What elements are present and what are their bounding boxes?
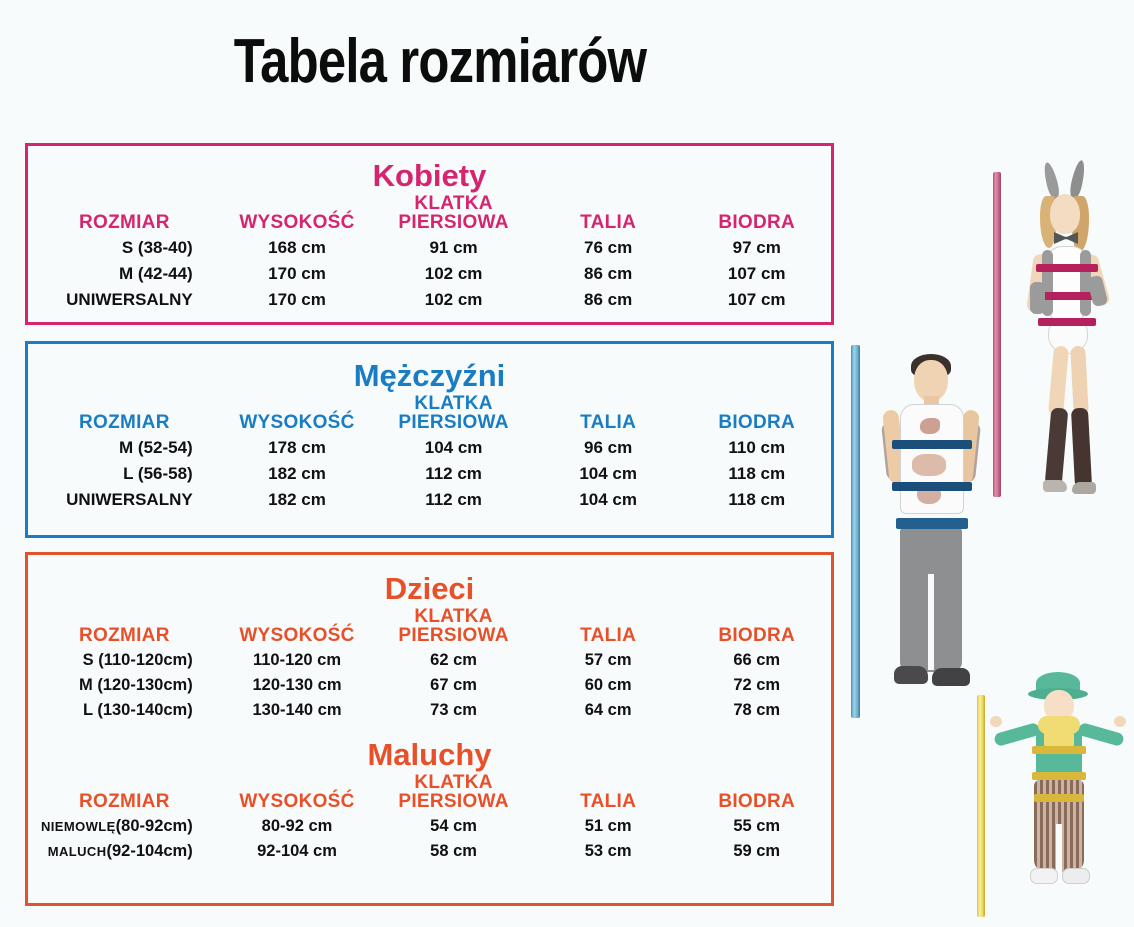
cell-chest: 112 cm [373,461,534,487]
cell-hips: 107 cm [682,287,831,313]
cell-height: 120-130 cm [221,673,374,698]
column-header-size: ROZMIAR [28,394,221,435]
section-title-kids: Dzieci [28,571,831,607]
shoe-right [932,668,970,686]
column-header-size: ROZMIAR [28,194,221,235]
man-measuring-illustration [862,336,1002,718]
corset-panel-left [1042,250,1053,316]
cell-size: NIEMOWLĘ(80-92cm) [28,814,221,839]
cell-height: 130-140 cm [221,698,374,723]
table-row: UNIWERSALNY 182 cm 112 cm 104 cm 118 cm [28,487,831,513]
arm-left [1026,253,1048,312]
hair-left [1040,196,1056,248]
cell-chest: 58 cm [373,839,534,864]
bunny-ear-right-icon [1068,159,1087,200]
cell-size-word: NIEMOWLĘ [41,819,116,834]
column-header-hips: BIODRA [682,773,831,814]
column-header-chest: KLATKA PIERSIOWA [373,194,534,235]
stocking-right [1071,408,1092,489]
striped-pants [1034,780,1084,872]
table-row: M (52-54) 178 cm 104 cm 96 cm 110 cm [28,435,831,461]
cell-hips: 118 cm [682,487,831,513]
cell-chest: 102 cm [373,287,534,313]
cell-size-range: (80-92cm) [116,817,193,835]
cell-waist: 104 cm [534,487,683,513]
cell-waist: 86 cm [534,261,683,287]
collar [1038,716,1080,734]
head [914,360,948,402]
column-header-waist: TALIA [534,394,683,435]
waist-measure-tape [1036,292,1098,300]
cell-waist: 51 cm [534,814,683,839]
table-women: ROZMIAR WYSOKOŚĆ KLATKA PIERSIOWA TALIA … [28,194,831,313]
column-header-height: WYSOKOŚĆ [221,773,374,814]
tattoo-right-arm [957,421,981,483]
pants [900,526,962,672]
chest-measure-tape [892,440,972,449]
page-title: Tabela rozmiarów [79,26,801,97]
cell-waist: 60 cm [534,673,683,698]
head [1050,194,1080,234]
column-header-waist: TALIA [534,773,683,814]
glove-left [1030,282,1045,314]
cell-waist: 53 cm [534,839,683,864]
cell-waist: 104 cm [534,461,683,487]
child-costume-illustration [988,672,1128,922]
size-table-men: Mężczyźni ROZMIAR WYSOKOŚĆ KLATKA PIERSI… [25,341,834,538]
column-header-size: ROZMIAR [28,607,221,648]
column-header-waist: TALIA [534,607,683,648]
column-header-height: WYSOKOŚĆ [221,394,374,435]
cell-size: S (110-120cm) [28,648,221,673]
cell-hips: 55 cm [682,814,831,839]
table-row: L (130-140cm) 130-140 cm 73 cm 64 cm 78 … [28,698,831,723]
cell-size: M (52-54) [28,435,221,461]
cell-height: 182 cm [221,487,374,513]
table-row: M (42-44) 170 cm 102 cm 86 cm 107 cm [28,261,831,287]
section-title-men: Mężczyźni [28,358,831,394]
shoe-left [1043,480,1067,492]
waist-measure-tape [1032,772,1086,780]
column-header-chest: KLATKA PIERSIOWA [373,773,534,814]
table-header-row: ROZMIAR WYSOKOŚĆ KLATKA PIERSIOWA TALIA … [28,607,831,648]
leg-separation [928,574,934,670]
column-header-hips: BIODRA [682,607,831,648]
leg-left [1048,345,1069,416]
measuring-ruler-pink-icon [993,172,1001,497]
cell-hips: 118 cm [682,461,831,487]
cell-height: 92-104 cm [221,839,374,864]
hair [911,354,951,378]
cell-waist: 64 cm [534,698,683,723]
measuring-ruler-blue-icon [851,345,860,718]
hips-measure-tape [896,518,968,529]
cell-size: M (42-44) [28,261,221,287]
cell-waist: 86 cm [534,287,683,313]
arm-left [993,722,1041,747]
cell-size: UNIWERSALNY [28,487,221,513]
bowtie-icon [1054,232,1078,244]
cell-size: L (130-140cm) [28,698,221,723]
cell-chest: 91 cm [373,235,534,261]
column-header-chest: KLATKA PIERSIOWA [373,394,534,435]
arm-right [956,409,980,484]
cell-size: S (38-40) [28,235,221,261]
column-header-size: ROZMIAR [28,773,221,814]
glove-right [1087,275,1109,308]
torso [1036,726,1082,784]
cell-chest: 62 cm [373,648,534,673]
shoe-right [1062,868,1090,884]
jester-hat-icon [1036,672,1080,694]
table-kids: ROZMIAR WYSOKOŚĆ KLATKA PIERSIOWA TALIA … [28,607,831,723]
table-toddlers: ROZMIAR WYSOKOŚĆ KLATKA PIERSIOWA TALIA … [28,773,831,864]
table-row: M (120-130cm) 120-130 cm 67 cm 60 cm 72 … [28,673,831,698]
tshirt [900,404,964,514]
cell-size: L (56-58) [28,461,221,487]
tshirt-graphic-mid [912,454,946,476]
cell-waist: 76 cm [534,235,683,261]
cell-size: MALUCH(92-104cm) [28,839,221,864]
table-header-row: ROZMIAR WYSOKOŚĆ KLATKA PIERSIOWA TALIA … [28,194,831,235]
cell-hips: 59 cm [682,839,831,864]
bunny-ear-left-icon [1042,161,1062,201]
leg-separation [1056,824,1062,874]
table-row: NIEMOWLĘ(80-92cm) 80-92 cm 54 cm 51 cm 5… [28,814,831,839]
column-header-hips: BIODRA [682,194,831,235]
table-row: UNIWERSALNY 170 cm 102 cm 86 cm 107 cm [28,287,831,313]
head [1044,690,1074,722]
hips-measure-tape [1034,794,1084,802]
cell-height: 168 cm [221,235,374,261]
cell-size-range: (92-104cm) [107,842,193,860]
torso [1046,246,1088,326]
cell-waist: 57 cm [534,648,683,673]
cell-size-word: MALUCH [48,844,107,859]
shoe-left [1030,868,1058,884]
hand-right [1114,716,1126,727]
chest-measure-tape [1032,746,1086,754]
hand-left [990,716,1002,727]
arm-right [1083,253,1111,307]
neck [924,396,939,408]
cell-height: 170 cm [221,261,374,287]
column-header-chest: KLATKA PIERSIOWA [373,607,534,648]
shoe-right [1072,482,1096,494]
table-row: L (56-58) 182 cm 112 cm 104 cm 118 cm [28,461,831,487]
table-row: S (38-40) 168 cm 91 cm 76 cm 97 cm [28,235,831,261]
cell-size: M (120-130cm) [28,673,221,698]
cell-waist: 96 cm [534,435,683,461]
hips-measure-tape [1038,318,1096,326]
arm-right [1077,722,1125,747]
column-header-height: WYSOKOŚĆ [221,194,374,235]
hat-brim [1028,688,1088,700]
cell-chest: 104 cm [373,435,534,461]
table-header-row: ROZMIAR WYSOKOŚĆ KLATKA PIERSIOWA TALIA … [28,394,831,435]
cell-chest: 54 cm [373,814,534,839]
corset-panel-right [1080,250,1091,316]
cell-hips: 78 cm [682,698,831,723]
measuring-ruler-yellow-icon [977,695,985,917]
cell-height: 80-92 cm [221,814,374,839]
cell-height: 178 cm [221,435,374,461]
tshirt-graphic-low [917,484,941,504]
cell-chest: 112 cm [373,487,534,513]
tattoo-left-arm [881,421,905,481]
stocking-left [1045,407,1069,486]
column-header-waist: TALIA [534,194,683,235]
tshirt-graphic-top [920,418,940,434]
arm-left [882,409,906,484]
table-row: MALUCH(92-104cm) 92-104 cm 58 cm 53 cm 5… [28,839,831,864]
cell-hips: 110 cm [682,435,831,461]
leg-right [1070,346,1089,417]
cell-size: UNIWERSALNY [28,287,221,313]
column-header-height: WYSOKOŚĆ [221,607,374,648]
cell-chest: 102 cm [373,261,534,287]
cell-hips: 66 cm [682,648,831,673]
chest-measure-tape [1036,264,1098,272]
section-title-toddlers: Maluchy [28,737,831,773]
table-header-row: ROZMIAR WYSOKOŚĆ KLATKA PIERSIOWA TALIA … [28,773,831,814]
cell-height: 110-120 cm [221,648,374,673]
size-table-women: Kobiety ROZMIAR WYSOKOŚĆ KLATKA PIERSIOW… [25,143,834,325]
cell-height: 170 cm [221,287,374,313]
woman-bunny-costume-illustration [1010,160,1130,512]
hips [1048,318,1088,354]
column-header-hips: BIODRA [682,394,831,435]
size-table-kids: Dzieci ROZMIAR WYSOKOŚĆ KLATKA PIERSIOWA… [25,552,834,906]
cell-hips: 97 cm [682,235,831,261]
cell-chest: 73 cm [373,698,534,723]
hair-right [1072,196,1089,252]
table-row: S (110-120cm) 110-120 cm 62 cm 57 cm 66 … [28,648,831,673]
table-men: ROZMIAR WYSOKOŚĆ KLATKA PIERSIOWA TALIA … [28,394,831,513]
section-title-women: Kobiety [28,158,831,194]
cell-chest: 67 cm [373,673,534,698]
cell-hips: 107 cm [682,261,831,287]
shoe-left [894,666,928,684]
waist-measure-tape [892,482,972,491]
collar-bib [1044,722,1074,750]
cell-hips: 72 cm [682,673,831,698]
cell-height: 182 cm [221,461,374,487]
